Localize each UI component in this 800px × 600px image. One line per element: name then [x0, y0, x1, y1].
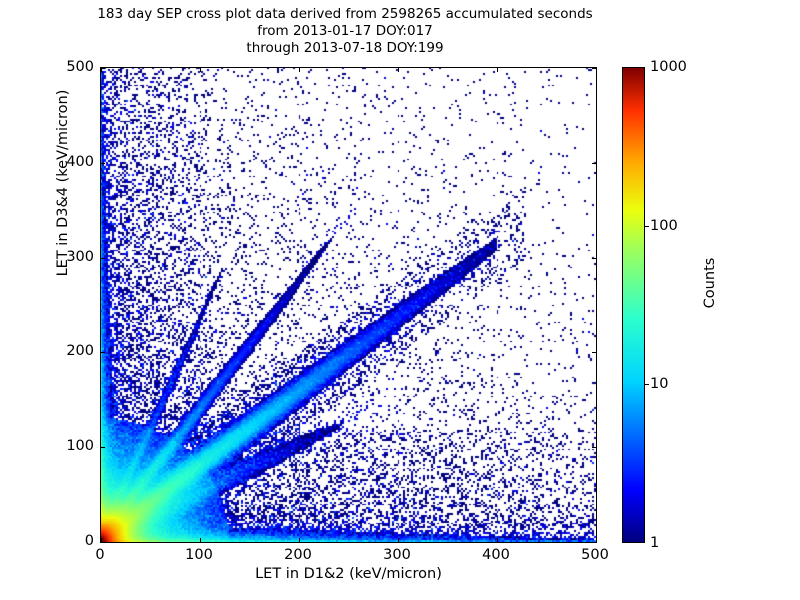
y-tick-mark: [592, 447, 596, 448]
colorbar-tick-label: 100: [650, 218, 678, 234]
y-tick-label: 200: [66, 343, 94, 359]
scatter-plot-axes[interactable]: [100, 67, 597, 543]
colorbar-tick-label: 10: [650, 376, 668, 392]
y-tick-mark: [101, 352, 105, 353]
y-axis-label: LET in D3&4 (keV/micron): [55, 53, 71, 313]
x-tick-mark: [200, 68, 201, 72]
y-tick-mark: [101, 542, 105, 543]
y-tick-mark: [101, 447, 105, 448]
x-tick-mark: [299, 538, 300, 542]
figure-canvas: 183 day SEP cross plot data derived from…: [0, 0, 800, 600]
y-tick-mark: [101, 68, 105, 69]
x-axis-label: LET in D1&2 (keV/micron): [100, 566, 597, 582]
colorbar-tick-label: 1000: [650, 59, 687, 75]
y-tick-label: 0: [85, 533, 94, 549]
y-tick-mark: [592, 352, 596, 353]
y-tick-mark: [101, 258, 105, 259]
colorbar-tick-label: 1: [650, 535, 659, 551]
y-tick-mark: [592, 258, 596, 259]
chart-title-line-1: 183 day SEP cross plot data derived from…: [0, 6, 690, 23]
x-tick-mark: [299, 68, 300, 72]
chart-title: 183 day SEP cross plot data derived from…: [0, 6, 690, 57]
y-tick-label: 100: [66, 438, 94, 454]
x-tick-mark: [200, 538, 201, 542]
scatter-density-plot: [101, 68, 596, 542]
chart-title-line-2: from 2013-01-17 DOY:017: [0, 23, 690, 40]
colorbar[interactable]: [622, 67, 645, 543]
x-tick-label: 500: [581, 547, 609, 563]
x-tick-mark: [497, 68, 498, 72]
chart-title-line-3: through 2013-07-18 DOY:199: [0, 40, 690, 57]
colorbar-tick-mark: [645, 226, 649, 227]
x-tick-mark: [596, 68, 597, 72]
y-tick-mark: [592, 542, 596, 543]
y-tick-mark: [101, 163, 105, 164]
x-tick-label: 300: [383, 547, 411, 563]
x-tick-mark: [398, 538, 399, 542]
x-tick-mark: [398, 68, 399, 72]
x-tick-label: 0: [95, 547, 104, 563]
y-tick-mark: [592, 68, 596, 69]
colorbar-label: Counts: [702, 213, 718, 353]
x-tick-label: 200: [284, 547, 312, 563]
x-tick-mark: [596, 538, 597, 542]
x-tick-mark: [497, 538, 498, 542]
y-tick-mark: [592, 163, 596, 164]
x-tick-label: 400: [482, 547, 510, 563]
colorbar-tick-mark: [645, 384, 649, 385]
colorbar-gradient: [622, 67, 645, 543]
x-tick-label: 100: [185, 547, 213, 563]
